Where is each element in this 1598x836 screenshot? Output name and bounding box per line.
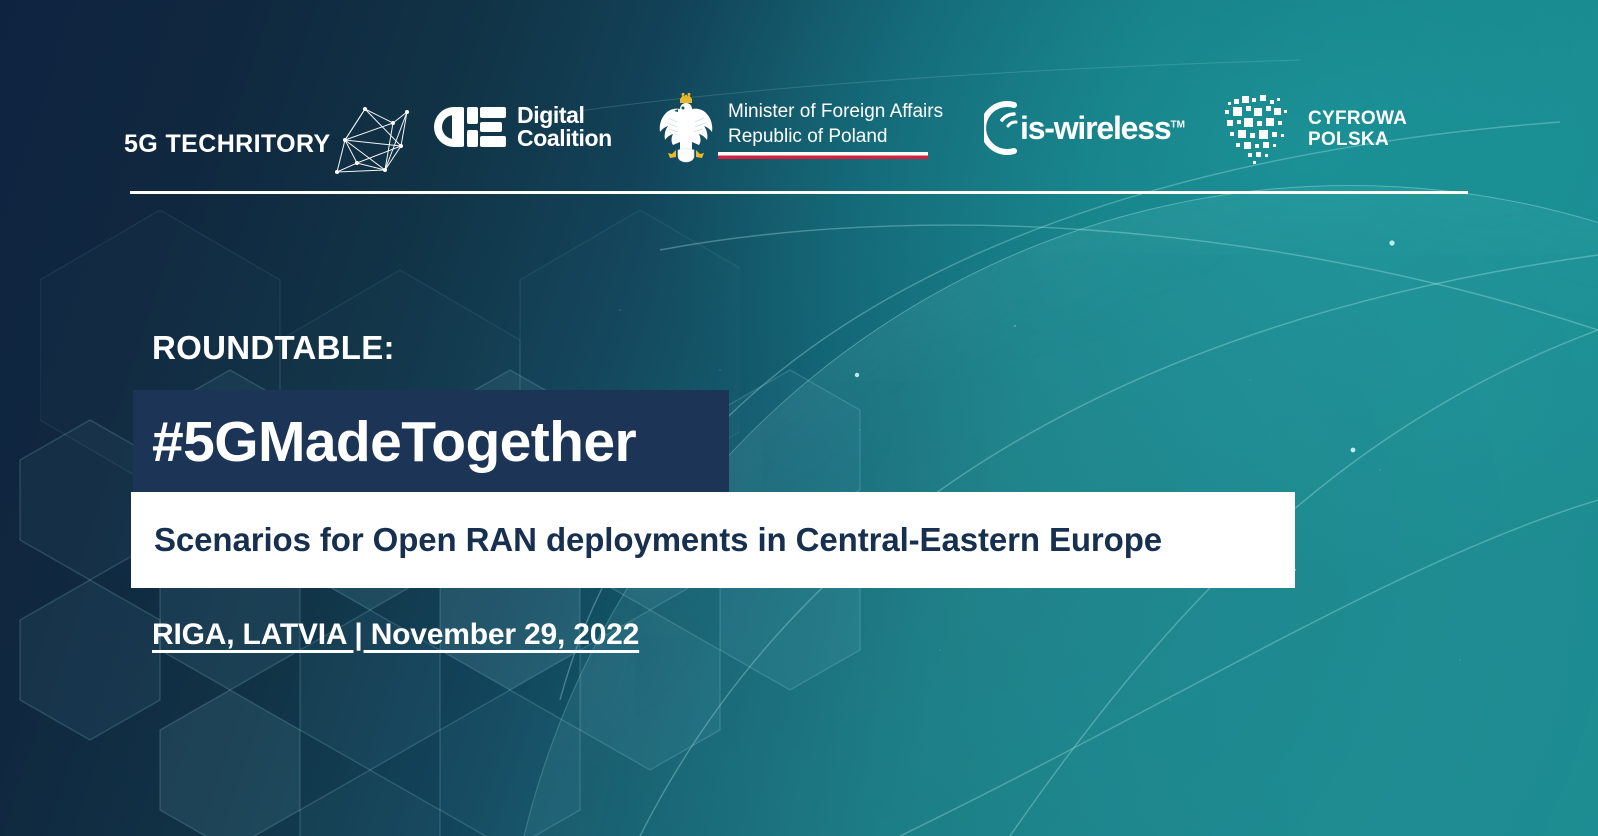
eyebrow-label: ROUNDTABLE: (152, 329, 395, 367)
logo-digital-coalition-line2: Coalition (517, 127, 612, 150)
subtitle-bar: Scenarios for Open RAN deployments in Ce… (131, 492, 1295, 588)
event-banner-slide: 5G TECHRITORY (0, 0, 1598, 836)
logo-cyfrowa-polska-line1: CYFROWA (1308, 108, 1407, 129)
logo-digital-coalition-line1: Digital (517, 104, 612, 127)
logo-is-wireless-tm: TM (1170, 119, 1184, 130)
location-date-label: RIGA, LATVIA | November 29, 2022 (152, 618, 639, 652)
logo-mfa-poland-line2: Republic of Poland (728, 124, 943, 149)
logo-mfa-poland-line1: Minister of Foreign Affairs (728, 99, 943, 124)
logo-digital-coalition-label: Digital Coalition (517, 104, 612, 149)
logo-is-wireless-wordmark: is-wireless (1020, 110, 1170, 146)
logo-5g-techritory[interactable]: 5G TECHRITORY (124, 108, 411, 180)
pixel-poland-map-icon (1222, 92, 1296, 166)
logo-mfa-poland-label: Minister of Foreign Affairs Republic of … (728, 92, 943, 149)
logo-digital-coalition[interactable]: Digital Coalition (434, 104, 612, 149)
subtitle-text: Scenarios for Open RAN deployments in Ce… (131, 521, 1162, 559)
logo-is-wireless[interactable]: is-wirelessTM (984, 100, 1185, 156)
logo-cyfrowa-polska[interactable]: CYFROWA POLSKA (1222, 92, 1407, 166)
logo-5g-techritory-label: 5G TECHRITORY (124, 130, 331, 159)
poland-flag-bar (718, 152, 928, 159)
logo-cyfrowa-polska-label: CYFROWA POLSKA (1308, 108, 1407, 151)
partner-logo-bar: 5G TECHRITORY (0, 0, 1598, 205)
logo-is-wireless-label: is-wirelessTM (1020, 110, 1185, 147)
digital-coalition-mark-icon (434, 105, 508, 149)
logo-bar-divider (130, 191, 1468, 194)
hashtag-title: #5GMadeTogether (133, 409, 636, 475)
logo-cyfrowa-polska-line2: POLSKA (1308, 129, 1407, 150)
hashtag-block: #5GMadeTogether (133, 390, 729, 493)
polish-eagle-icon (656, 92, 716, 164)
network-nodes-icon (327, 102, 411, 180)
